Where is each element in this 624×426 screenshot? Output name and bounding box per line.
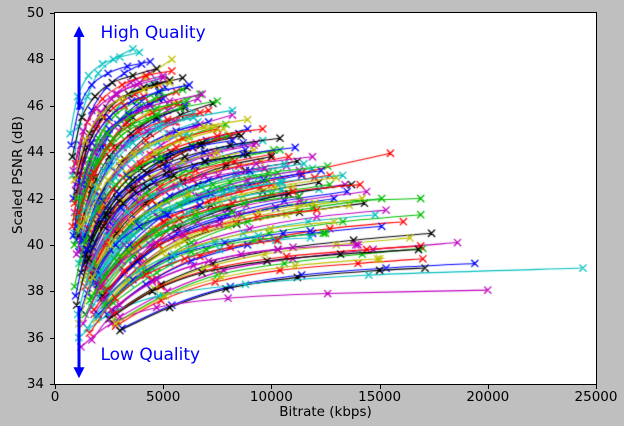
y-tick-label: 40 — [0, 237, 44, 253]
x-tick-label: 15000 — [358, 389, 401, 405]
y-tick-label: 50 — [0, 5, 44, 21]
plot-area: High QualityLow Quality — [54, 12, 597, 385]
y-tick-label: 42 — [0, 191, 44, 207]
x-tick-label: 0 — [51, 389, 60, 405]
low-quality-arrow-icon — [67, 303, 91, 381]
x-axis-label: Bitrate (kbps) — [54, 404, 597, 420]
y-tick-label: 38 — [0, 283, 44, 299]
x-tick-mark — [596, 385, 597, 389]
x-tick-mark — [55, 385, 56, 389]
x-tick-label: 20000 — [466, 389, 509, 405]
scatter-plot-canvas — [55, 13, 596, 384]
high-quality-label: High Quality — [100, 23, 205, 43]
figure: Scaled PSNR (dB) Bitrate (kbps) 34363840… — [0, 0, 624, 426]
x-tick-label: 25000 — [575, 389, 618, 405]
y-tick-label: 44 — [0, 144, 44, 160]
x-tick-mark — [488, 385, 489, 389]
x-tick-label: 5000 — [146, 389, 180, 405]
y-tick-label: 48 — [0, 51, 44, 67]
high-quality-arrow-icon — [67, 23, 91, 113]
y-tick-label: 34 — [0, 376, 44, 392]
y-tick-label: 36 — [0, 330, 44, 346]
x-tick-label: 10000 — [250, 389, 293, 405]
x-tick-mark — [271, 385, 272, 389]
low-quality-label: Low Quality — [100, 345, 200, 365]
x-tick-mark — [163, 385, 164, 389]
x-tick-mark — [380, 385, 381, 389]
y-tick-label: 46 — [0, 98, 44, 114]
